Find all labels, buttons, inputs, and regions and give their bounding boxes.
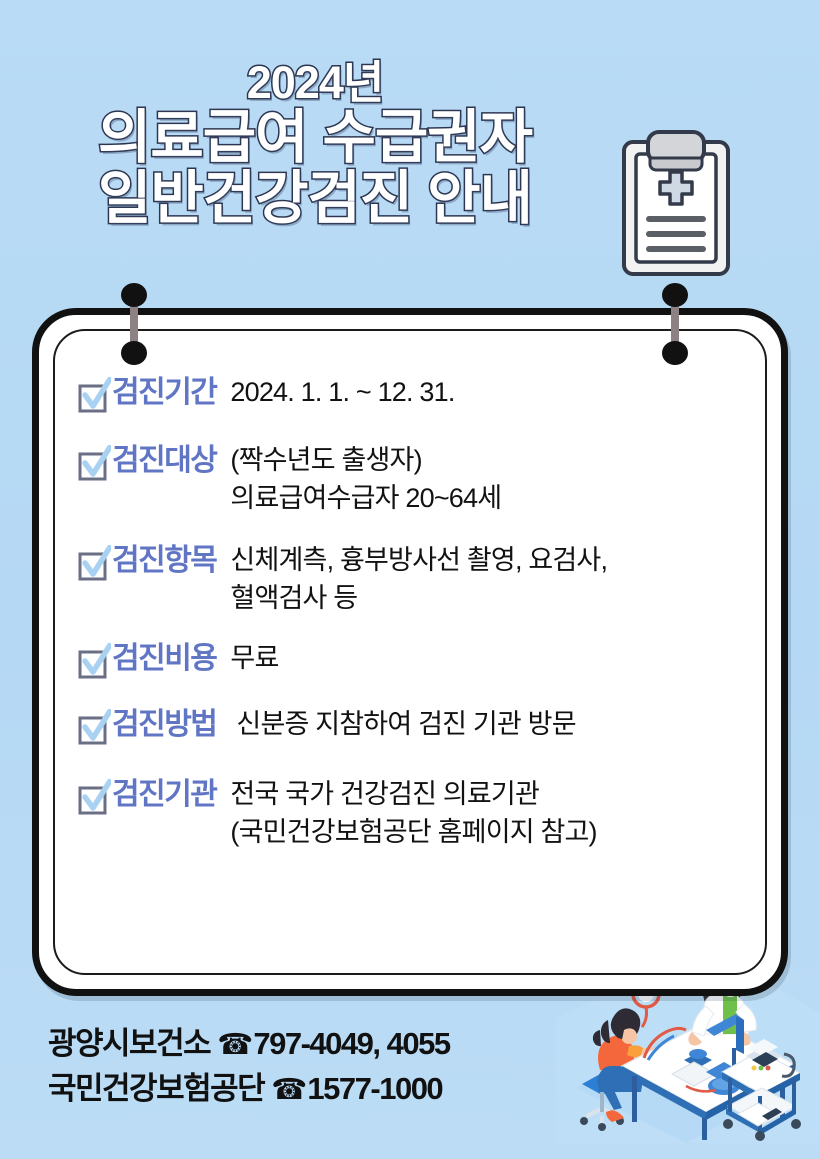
info-row-checkup-items: 검진항목 신체계측, 흉부방사선 촬영, 요검사, 혈액검사 등 [77, 541, 757, 617]
pin-left [121, 283, 147, 373]
info-card: 검진기간 2024. 1. 1. ~ 12. 31. 검진대상 (짝수년도 출생… [32, 308, 788, 996]
info-row-checkup-cost: 검진비용 무료 [77, 639, 757, 681]
checkbox-checked-icon [77, 545, 111, 583]
checkbox-checked-icon [77, 377, 111, 415]
poster-title: 2024년 의료급여 수급권자 일반건강검진 안내 [0, 60, 630, 228]
info-row-label: 검진기관 [112, 775, 216, 815]
pin-head-bottom [121, 341, 147, 365]
footer-line-nhis: 국민건강보험공단 ☎1577-1000 [48, 1067, 450, 1112]
checkbox-checked-icon [77, 779, 111, 817]
info-row-value: 2024. 1. 1. ~ 12. 31. [230, 373, 757, 411]
title-line-1: 2024년 [0, 60, 630, 106]
pin-head-top [121, 283, 147, 307]
info-row-value: (짝수년도 출생자) 의료급여수급자 20~64세 [230, 441, 757, 517]
info-row-checkup-target: 검진대상 (짝수년도 출생자) 의료급여수급자 20~64세 [77, 441, 757, 517]
info-row-checkup-period: 검진기간 2024. 1. 1. ~ 12. 31. [77, 373, 757, 415]
poster-footer: 광양시보건소 ☎797-4049, 4055 국민건강보험공단 ☎1577-10… [48, 1022, 450, 1112]
pin-head-bottom [662, 341, 688, 365]
checkbox-checked-icon [77, 445, 111, 483]
info-row-label: 검진대상 [112, 441, 216, 481]
info-row-value: 신분증 지참하여 검진 기관 방문 [236, 705, 757, 743]
info-row-label: 검진비용 [112, 639, 216, 679]
title-line-2: 의료급여 수급권자 [0, 108, 630, 167]
telephone-icon: ☎ [217, 1029, 253, 1061]
telephone-icon: ☎ [271, 1074, 307, 1106]
footer-phone-number: 1577-1000 [307, 1071, 442, 1106]
clipboard-medical-icon [620, 128, 732, 278]
info-row-label: 검진방법 [112, 705, 216, 745]
pin-right [662, 283, 688, 373]
info-row-checkup-institution: 검진기관 전국 국가 건강검진 의료기관 (국민건강보험공단 홈페이지 참고) [77, 775, 757, 851]
checkbox-checked-icon [77, 709, 111, 747]
info-rows: 검진기간 2024. 1. 1. ~ 12. 31. 검진대상 (짝수년도 출생… [77, 373, 757, 851]
title-line-3: 일반건강검진 안내 [0, 169, 630, 228]
info-row-value: 신체계측, 흉부방사선 촬영, 요검사, 혈액검사 등 [230, 541, 757, 617]
footer-org-name: 광양시보건소 [48, 1026, 210, 1061]
info-row-value: 전국 국가 건강검진 의료기관 (국민건강보험공단 홈페이지 참고) [230, 775, 757, 851]
info-row-checkup-method: 검진방법 신분증 지참하여 검진 기관 방문 [77, 705, 757, 747]
pin-head-top [662, 283, 688, 307]
poster-root: 2024년 의료급여 수급권자 일반건강검진 안내 [0, 0, 820, 1159]
info-row-label: 검진기간 [112, 373, 216, 413]
footer-phone-number: 797-4049, 4055 [253, 1026, 449, 1061]
footer-line-health-center: 광양시보건소 ☎797-4049, 4055 [48, 1022, 450, 1067]
info-row-value: 무료 [230, 639, 757, 677]
info-row-label: 검진항목 [112, 541, 216, 581]
poster-header: 2024년 의료급여 수급권자 일반건강검진 안내 [0, 60, 820, 280]
checkbox-checked-icon [77, 643, 111, 681]
footer-org-name: 국민건강보험공단 [48, 1071, 264, 1106]
